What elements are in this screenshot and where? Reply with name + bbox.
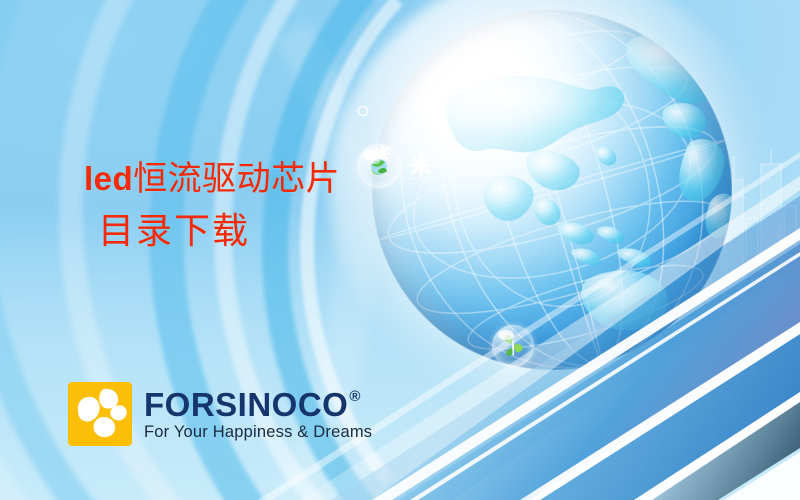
- brand-logo: FORSINOCO® For Your Happiness & Dreams: [68, 382, 372, 446]
- headline-block: led恒流驱动芯片 目录下载: [84, 160, 340, 252]
- logo-tagline: For Your Happiness & Dreams: [144, 424, 372, 441]
- headline-cjk: 恒流驱动芯片: [133, 159, 340, 199]
- headline-line-1: led恒流驱动芯片: [84, 160, 340, 198]
- flower-sparkle-icon: [404, 148, 438, 182]
- bubble-with-leaf-icon: [492, 325, 534, 367]
- bubble-with-globe-icon: [357, 144, 401, 188]
- headline-line-2: 目录下载: [98, 212, 340, 252]
- logo-text-block: FORSINOCO® For Your Happiness & Dreams: [144, 388, 372, 441]
- logo-name-text: FORSINOCO: [144, 388, 348, 421]
- logo-wordmark: FORSINOCO®: [144, 388, 372, 421]
- globe-sphere: [372, 10, 732, 370]
- registered-trademark-icon: ®: [349, 389, 361, 404]
- earth-globe-icon: [372, 10, 732, 370]
- headline-latin: led: [84, 160, 133, 197]
- flower-sparkle-icon: [356, 104, 370, 118]
- pinwheel-petals-icon: [68, 382, 132, 446]
- promo-banner: led恒流驱动芯片 目录下载 FORSINOCO® For Your Happi…: [0, 0, 800, 500]
- globe-rim-shading: [372, 10, 732, 370]
